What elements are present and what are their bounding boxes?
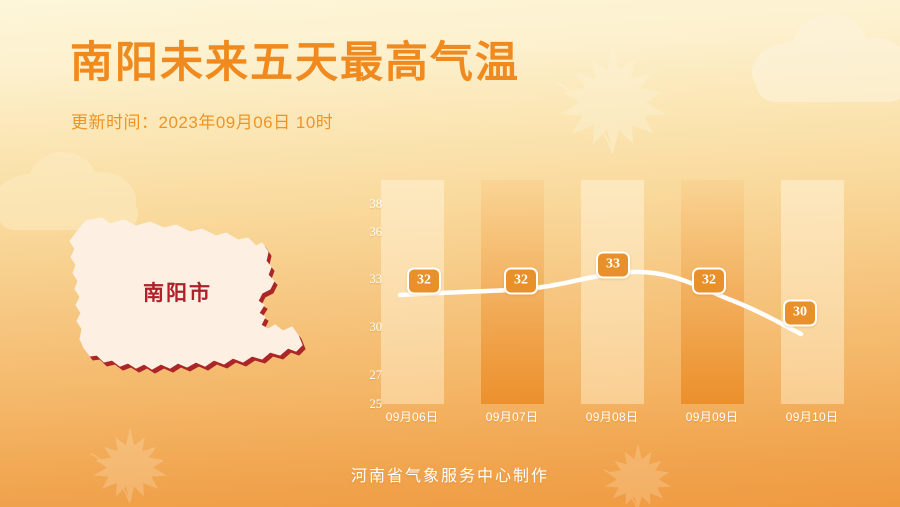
footer-credit: 河南省气象服务中心制作 <box>0 462 900 486</box>
x-axis-label: 09月07日 <box>462 408 562 425</box>
temperature-line <box>0 0 900 507</box>
data-point-badge: 30 <box>783 300 817 327</box>
x-axis-label: 09月09日 <box>662 408 762 425</box>
data-point-badge: 32 <box>692 268 726 295</box>
x-axis-label: 09月08日 <box>562 408 662 425</box>
x-axis: 09月06日 09月07日 09月08日 09月09日 09月10日 <box>0 408 900 430</box>
temperature-chart: 38 36 33 30 27 25 32 32 33 32 30 09月06日 … <box>0 0 900 507</box>
x-axis-label: 09月10日 <box>762 408 862 425</box>
data-point-badge: 32 <box>504 268 538 295</box>
data-point-badge: 33 <box>596 252 630 279</box>
data-point-badge: 32 <box>407 268 441 295</box>
x-axis-label: 09月06日 <box>362 408 462 425</box>
weather-poster: 南阳未来五天最高气温 更新时间：2023年09月06日 10时 南阳市 38 <box>0 0 900 507</box>
